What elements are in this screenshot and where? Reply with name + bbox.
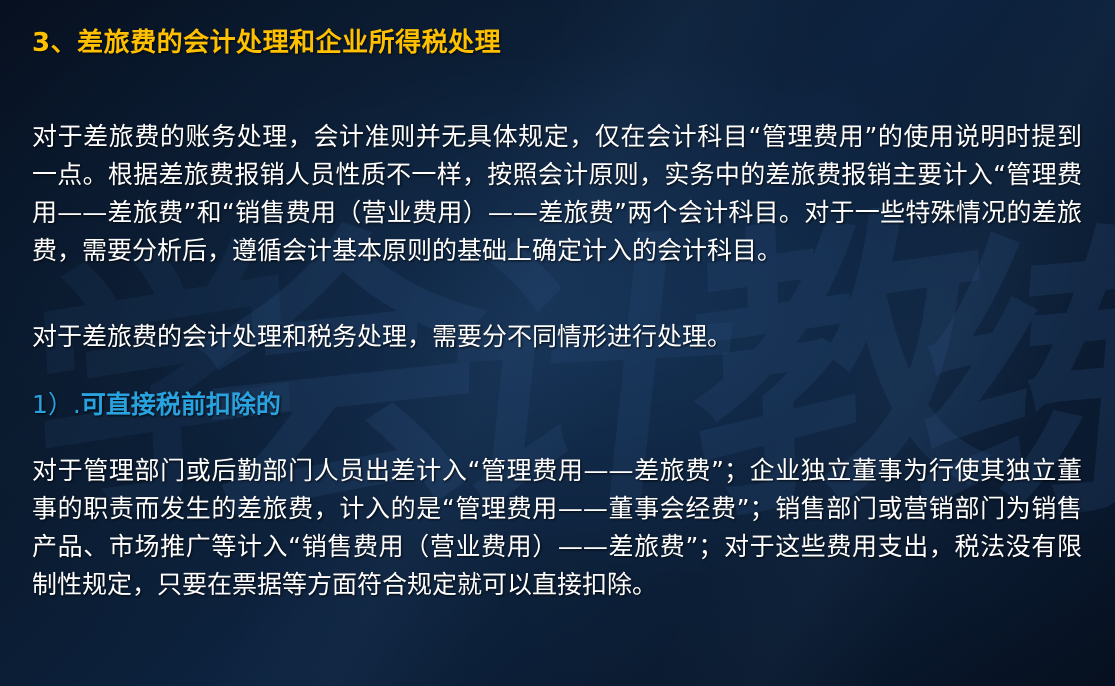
- paragraph-deductible-details: 对于管理部门或后勤部门人员出差计入“管理费用——差旅费”；企业独立董事为行使其独…: [32, 452, 1082, 604]
- presentation-slide: 会 计 教 练 学 3、差旅费的会计处理和企业所得税处理 对于差旅费的账务处理，…: [0, 0, 1115, 686]
- sub-heading-deductible: 1）.可直接税前扣除的: [32, 385, 281, 421]
- paragraph-tax-treatment-intro: 对于差旅费的会计处理和税务处理，需要分不同情形进行处理。: [32, 318, 1082, 356]
- slide-title: 3、差旅费的会计处理和企业所得税处理: [32, 22, 501, 59]
- sub-heading-number: 1）.: [32, 390, 81, 419]
- slide-content: 3、差旅费的会计处理和企业所得税处理 对于差旅费的账务处理，会计准则并无具体规定…: [0, 0, 1115, 686]
- sub-heading-text: 可直接税前扣除的: [81, 390, 281, 419]
- paragraph-accounting-treatment: 对于差旅费的账务处理，会计准则并无具体规定，仅在会计科目“管理费用”的使用说明时…: [32, 118, 1082, 270]
